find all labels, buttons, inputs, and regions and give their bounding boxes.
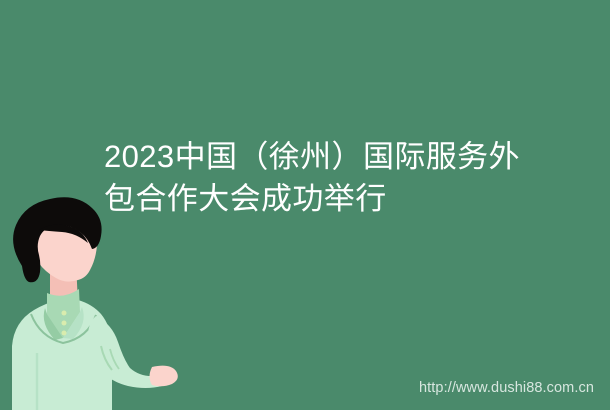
right-hand [150, 366, 178, 387]
headline-line-1: 2023中国（徐州）国际服务外 [104, 136, 524, 178]
watermark-url: http://www.dushi88.com.cn [419, 380, 594, 396]
image-canvas: 2023中国（徐州）国际服务外 包合作大会成功举行 [0, 0, 610, 410]
person-illustration-svg [0, 196, 210, 410]
person-illustration [0, 196, 210, 410]
collar-button [62, 331, 67, 336]
collar-button [62, 321, 67, 326]
collar-button [62, 311, 67, 316]
